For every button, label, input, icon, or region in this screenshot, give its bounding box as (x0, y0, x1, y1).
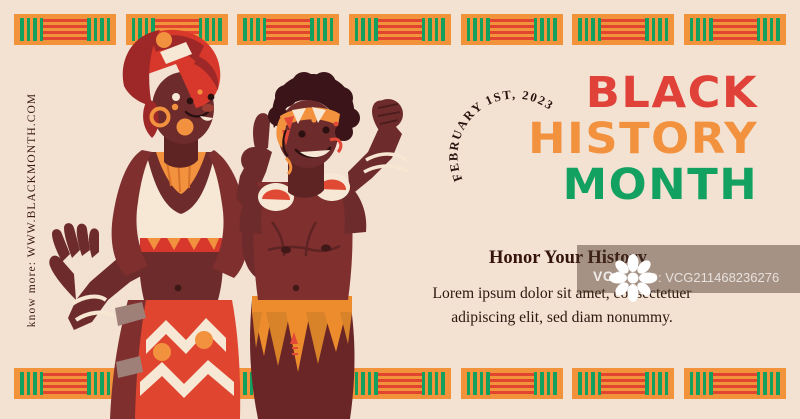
green-stripes-right (422, 17, 445, 42)
green-stripes-left (355, 371, 378, 396)
vcg-flower-icon (609, 254, 657, 302)
green-stripes-left (578, 17, 601, 42)
headline-block: BLACK HISTORY MONTH (537, 72, 758, 206)
red-stripes-center (266, 373, 310, 395)
green-stripes-left (355, 17, 378, 42)
green-stripes-left (578, 371, 601, 396)
green-stripes-left (467, 17, 490, 42)
kente-tile (572, 14, 674, 45)
headline-line-history: HISTORY (528, 118, 758, 160)
headline-line-month: MONTH (528, 164, 758, 206)
kente-tile (14, 368, 116, 399)
kente-tile (684, 368, 786, 399)
green-stripes-left (243, 371, 266, 396)
top-border-strip (0, 13, 800, 46)
red-stripes-center (713, 373, 757, 395)
red-stripes-center (490, 19, 534, 41)
green-stripes-right (87, 17, 110, 42)
red-stripes-center (155, 19, 199, 41)
green-stripes-right (310, 371, 333, 396)
kente-tile (14, 14, 116, 45)
green-stripes-left (20, 371, 43, 396)
green-stripes-right (534, 371, 557, 396)
watermark-id: ID: VCG211468236276 (645, 270, 779, 285)
green-stripes-right (645, 371, 668, 396)
red-stripes-center (378, 373, 422, 395)
green-stripes-right (422, 371, 445, 396)
red-stripes-center (601, 373, 645, 395)
kente-tile (237, 14, 339, 45)
red-stripes-center (378, 19, 422, 41)
red-stripes-center (490, 373, 534, 395)
green-stripes-left (243, 17, 266, 42)
red-stripes-center (266, 19, 310, 41)
red-stripes-center (43, 373, 87, 395)
green-stripes-right (645, 17, 668, 42)
bottom-border-strip (0, 367, 800, 400)
body-copy-line-2: adipiscing elit, sed diam nonummy. (366, 306, 758, 330)
green-stripes-right (757, 371, 780, 396)
green-stripes-right (310, 17, 333, 42)
red-stripes-center (43, 19, 87, 41)
green-stripes-left (690, 371, 713, 396)
poster-canvas: know more: WWW.BLACKMONTH.COM FEBRUARY 1… (0, 0, 800, 419)
green-stripes-right (757, 17, 780, 42)
green-stripes-right (199, 17, 222, 42)
kente-tile (461, 14, 563, 45)
kente-tile (237, 368, 339, 399)
kente-tile (349, 368, 451, 399)
green-stripes-left (467, 371, 490, 396)
kente-tile (126, 368, 228, 399)
red-stripes-center (713, 19, 757, 41)
kente-tile (461, 368, 563, 399)
red-stripes-center (601, 19, 645, 41)
green-stripes-right (199, 371, 222, 396)
red-stripes-center (155, 373, 199, 395)
kente-tile (684, 14, 786, 45)
green-stripes-left (20, 17, 43, 42)
headline-line-black: BLACK (528, 72, 758, 114)
kente-tile (126, 14, 228, 45)
green-stripes-right (87, 371, 110, 396)
green-stripes-left (132, 17, 155, 42)
kente-tile (572, 368, 674, 399)
green-stripes-left (690, 17, 713, 42)
green-stripes-right (534, 17, 557, 42)
green-stripes-left (132, 371, 155, 396)
kente-tile (349, 14, 451, 45)
website-vertical-label: know more: WWW.BLACKMONTH.COM (26, 92, 38, 326)
